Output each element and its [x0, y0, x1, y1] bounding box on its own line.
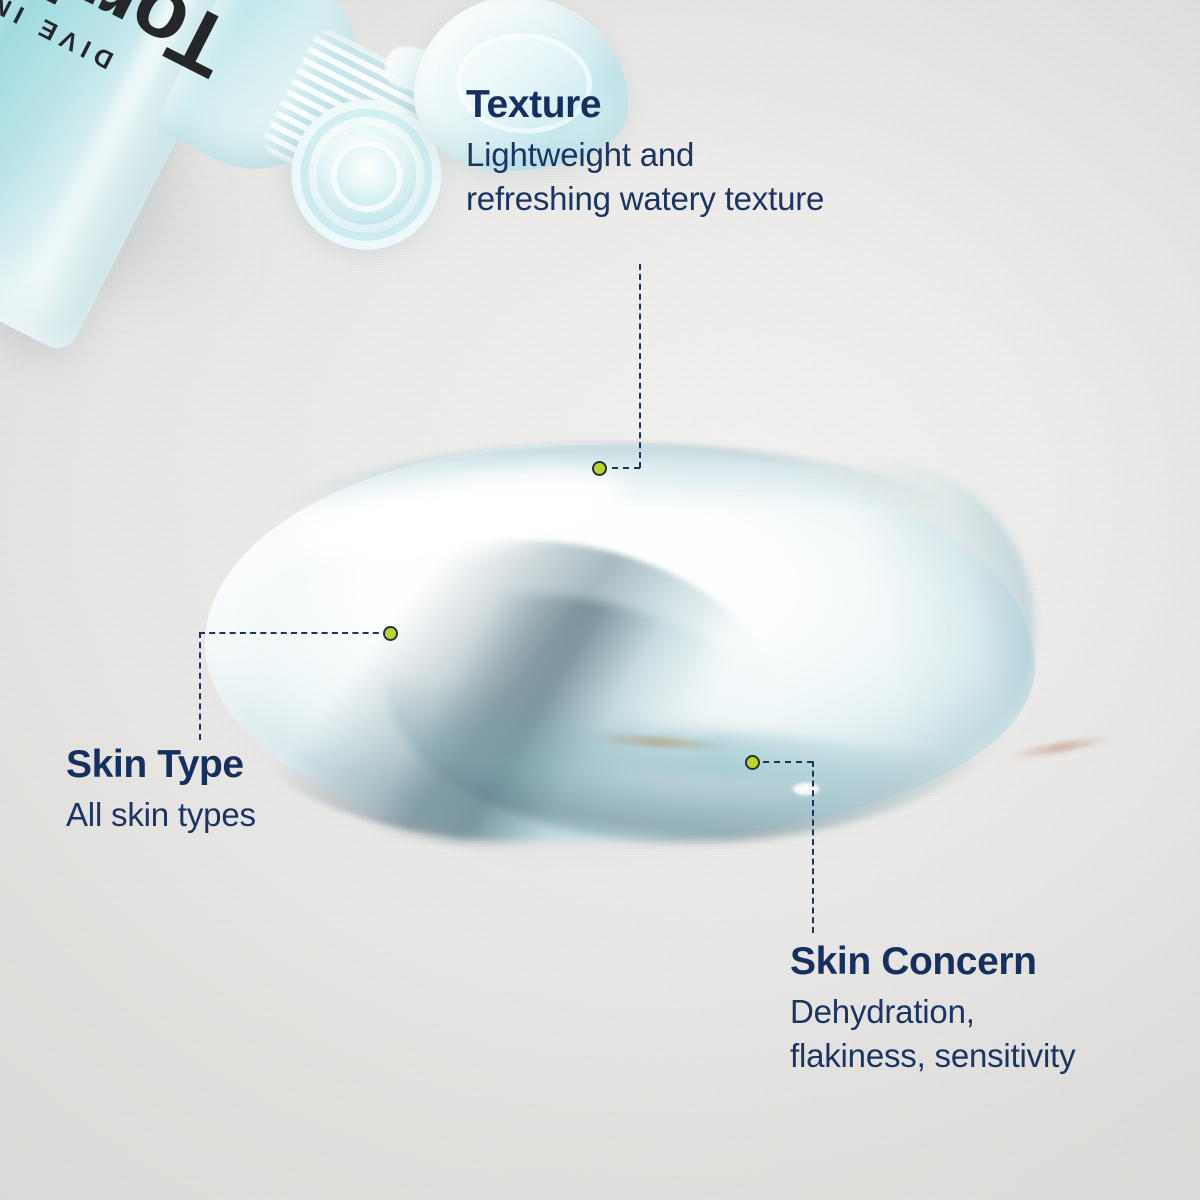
callout-skin-concern-body-line-1: Dehydration, — [790, 990, 1075, 1034]
callout-texture-body-line-2: refreshing watery texture — [466, 177, 824, 221]
callout-skin-concern-body: Dehydration, flakiness, sensitivity — [790, 990, 1075, 1077]
callout-skin-type: Skin Type All skin types — [66, 744, 256, 837]
callout-skin-type-body-line-1: All skin types — [66, 793, 256, 837]
marker-dot-skin-concern[interactable] — [745, 755, 760, 770]
callout-skin-concern: Skin Concern Dehydration, flakiness, sen… — [790, 941, 1075, 1077]
connector-texture-horizontal — [612, 467, 640, 469]
infographic-canvas: DIVE IN Torriden Texture — [0, 0, 1200, 1200]
connector-skin-concern-vertical — [812, 761, 814, 933]
callout-texture-title: Texture — [466, 84, 824, 125]
callout-texture: Texture Lightweight and refreshing water… — [466, 84, 824, 220]
connector-texture-vertical — [639, 264, 641, 468]
callout-skin-type-body: All skin types — [66, 793, 256, 837]
serum-droplet — [205, 443, 1035, 848]
marker-dot-skin-type[interactable] — [383, 626, 398, 641]
connector-skin-concern-horizontal — [763, 761, 813, 763]
callout-skin-concern-title: Skin Concern — [790, 941, 1075, 982]
marker-dot-texture[interactable] — [592, 461, 607, 476]
connector-skin-type-horizontal — [199, 632, 389, 634]
callout-skin-type-title: Skin Type — [66, 744, 256, 785]
droplet-highlight-dot — [793, 783, 819, 795]
callout-skin-concern-body-line-2: flakiness, sensitivity — [790, 1034, 1075, 1078]
connector-skin-type-vertical — [199, 632, 201, 740]
callout-texture-body-line-1: Lightweight and — [466, 133, 824, 177]
callout-texture-body: Lightweight and refreshing watery textur… — [466, 133, 824, 220]
